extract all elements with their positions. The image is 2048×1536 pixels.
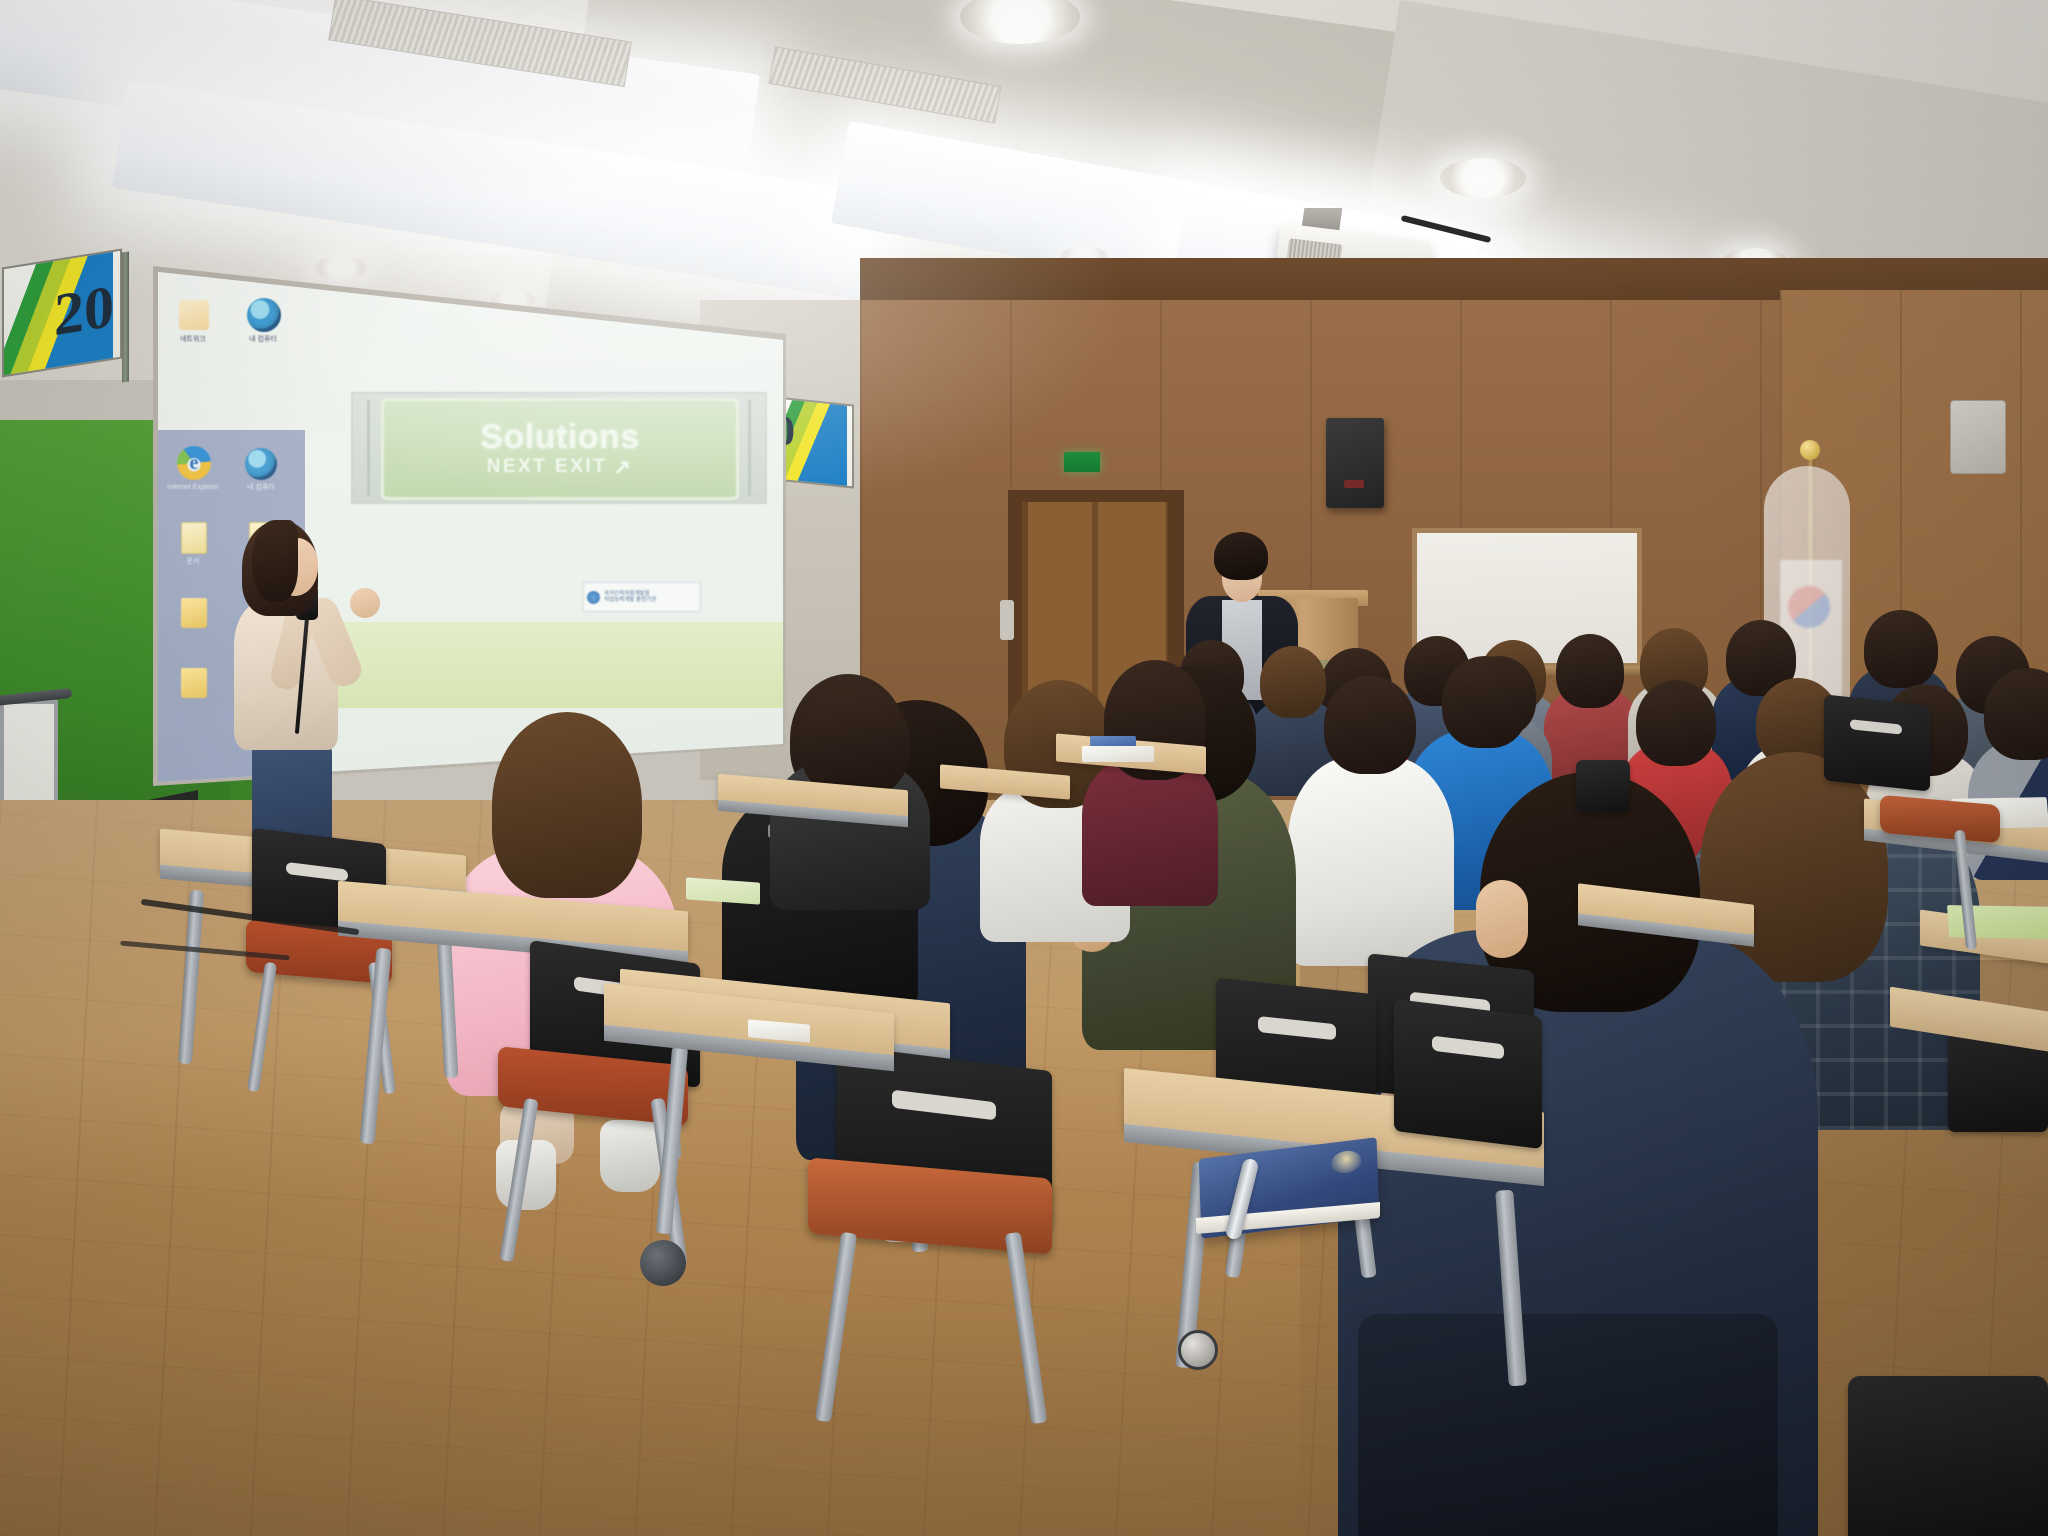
organisation-mark-icon	[587, 591, 600, 604]
chair-handle-slot	[1258, 1016, 1336, 1040]
chair-back	[1848, 1376, 2048, 1536]
folder-icon[interactable]	[181, 668, 207, 698]
chair-back	[1576, 760, 1630, 812]
folder-icon[interactable]	[181, 598, 207, 628]
chair-back	[1824, 694, 1930, 791]
slide-sign-subtitle: NEXT EXIT ↗	[487, 455, 634, 480]
attendee-head	[492, 712, 642, 898]
desktop-icon-label: Internet Explorer	[165, 484, 221, 492]
attendee-white-shirt	[1288, 756, 1454, 966]
chair-handle-slot	[1850, 719, 1902, 734]
attendee-head	[800, 686, 910, 798]
exit-sign	[1064, 452, 1100, 472]
highway-sign-board: Solutions NEXT EXIT ↗	[381, 398, 739, 500]
desktop-icon-label: 내 컴퓨터	[233, 484, 289, 492]
desktop-icon-label: 내 컴퓨터	[235, 336, 291, 344]
handout-paper	[1082, 746, 1154, 762]
attendee-head	[1864, 610, 1938, 688]
staff-hair	[1214, 532, 1268, 580]
presenter-hand	[350, 588, 380, 618]
attendee-lap	[1358, 1314, 1778, 1536]
chair-handle-slot	[1432, 1036, 1504, 1060]
globe-icon[interactable]	[247, 298, 281, 332]
attendee-head	[1324, 676, 1416, 774]
speaker-logo-icon	[1344, 480, 1364, 488]
banner-pole	[122, 251, 129, 382]
attendee-head	[1556, 634, 1624, 708]
chair-back	[1394, 999, 1542, 1149]
wall-speaker	[1326, 418, 1384, 508]
banner-number: 20	[54, 272, 114, 351]
arrow-up-right-icon: ↗	[613, 455, 633, 480]
chair-handle-slot	[286, 862, 348, 882]
attendee-head	[1260, 646, 1326, 718]
desktop-icon-label: 네트워크	[165, 336, 221, 344]
attendee-shoe	[600, 1120, 660, 1192]
slide-sign-subtitle-text: NEXT EXIT	[487, 456, 608, 478]
doc-icon[interactable]	[181, 522, 207, 554]
attendee-head	[1636, 680, 1716, 766]
light-switch[interactable]	[1000, 600, 1014, 640]
notebook-emblem-icon	[1331, 1149, 1362, 1175]
slide-footer-logo: 국가인적자원개발원 직업능력개발 훈련기관	[583, 582, 701, 612]
ceiling-downlight	[315, 256, 367, 280]
seminar-room-photo: 20 0 휴지통 비우기 내 문서 네트워크 내 컴퓨터 Internet Ex…	[0, 0, 2048, 1536]
globe-icon[interactable]	[245, 448, 277, 480]
flag-finial	[1800, 440, 1820, 460]
attendee-ear	[1476, 880, 1528, 958]
ie-icon[interactable]	[177, 446, 211, 480]
desktop-icon-label: 문서	[165, 558, 221, 566]
people-icon[interactable]	[179, 300, 209, 330]
wall-banner-left: 20	[2, 248, 122, 377]
slide-logo-line2: 직업능력개발 훈련기관	[604, 597, 656, 603]
presenter-hair-front	[252, 520, 298, 602]
wall-speaker-right	[1950, 400, 2006, 474]
ceiling-downlight	[1440, 158, 1526, 198]
chair-handle-slot	[892, 1090, 996, 1121]
caster-wheel	[1178, 1330, 1218, 1370]
caster-wheel	[640, 1240, 686, 1286]
slide-sign-title: Solutions	[480, 419, 639, 455]
attendee-head	[1442, 656, 1528, 748]
